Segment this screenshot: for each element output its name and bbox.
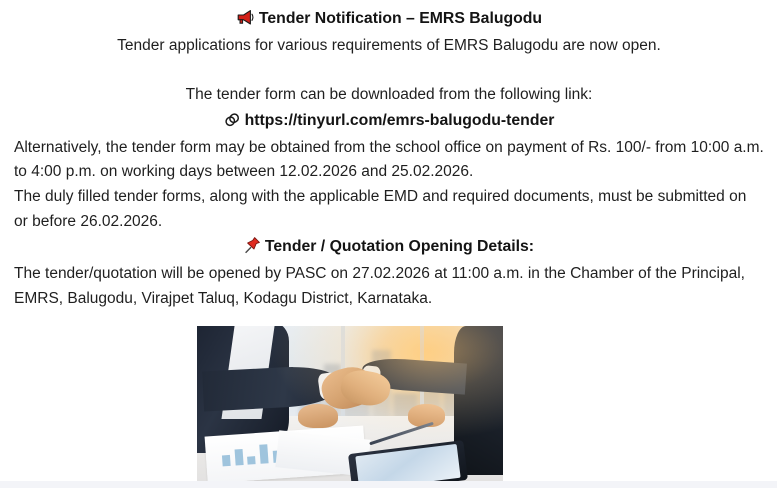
bottom-band [0,481,777,488]
pushpin-icon [244,236,261,262]
blank-line [14,59,764,84]
notice-page: Tender Notification – EMRS Balugodu Tend… [0,0,777,488]
link-icon [224,111,241,136]
megaphone-icon [236,9,255,34]
download-intro: The tender form can be downloaded from t… [14,83,764,108]
page-subtitle: Tender applications for various requirem… [14,34,764,59]
opening-details-body: The tender/quotation will be opened by P… [14,262,764,311]
opening-details-heading: Tender / Quotation Opening Details: [14,234,764,262]
business-handshake-photo [197,326,503,481]
page-title: Tender Notification – EMRS Balugodu [14,6,764,34]
tender-link-line: https://tinyurl.com/emrs-balugodu-tender [14,108,764,136]
photo-canvas [197,326,503,481]
page-title-text: Tender Notification – EMRS Balugodu [259,10,542,27]
photo-resting-hand-left [298,404,338,429]
tender-link-text[interactable]: https://tinyurl.com/emrs-balugodu-tender [245,112,555,129]
opening-details-heading-text: Tender / Quotation Opening Details: [265,238,534,255]
paragraph-payment: Alternatively, the tender form may be ob… [14,136,764,185]
paragraph-submission: The duly filled tender forms, along with… [14,185,764,234]
notice-content: Tender Notification – EMRS Balugodu Tend… [0,0,777,311]
